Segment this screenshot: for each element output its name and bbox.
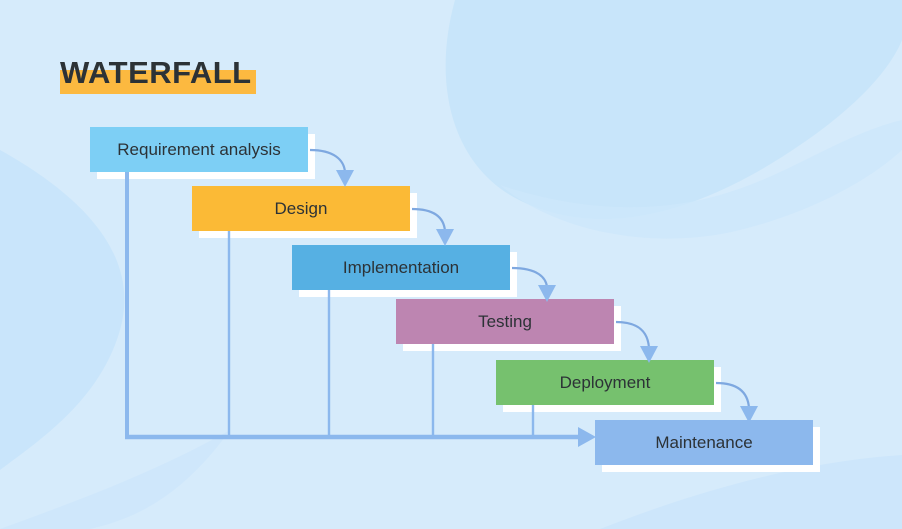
- waterfall-diagram-canvas: WATERFALL Requirement analysis Design Im…: [0, 0, 902, 529]
- stage-box-design[interactable]: Design: [192, 186, 410, 231]
- stage-box-requirement-analysis[interactable]: Requirement analysis: [90, 127, 308, 172]
- stage-box-implementation[interactable]: Implementation: [292, 245, 510, 290]
- stage-box-testing[interactable]: Testing: [396, 299, 614, 344]
- stage-label: Requirement analysis: [117, 141, 280, 158]
- title-text: WATERFALL: [60, 52, 252, 94]
- stage-label: Testing: [478, 313, 532, 330]
- stage-label: Design: [275, 200, 328, 217]
- stage-box-deployment[interactable]: Deployment: [496, 360, 714, 405]
- page-title: WATERFALL: [60, 52, 252, 94]
- stage-label: Maintenance: [655, 434, 752, 451]
- stage-label: Implementation: [343, 259, 459, 276]
- stage-label: Deployment: [560, 374, 651, 391]
- stage-box-maintenance[interactable]: Maintenance: [595, 420, 813, 465]
